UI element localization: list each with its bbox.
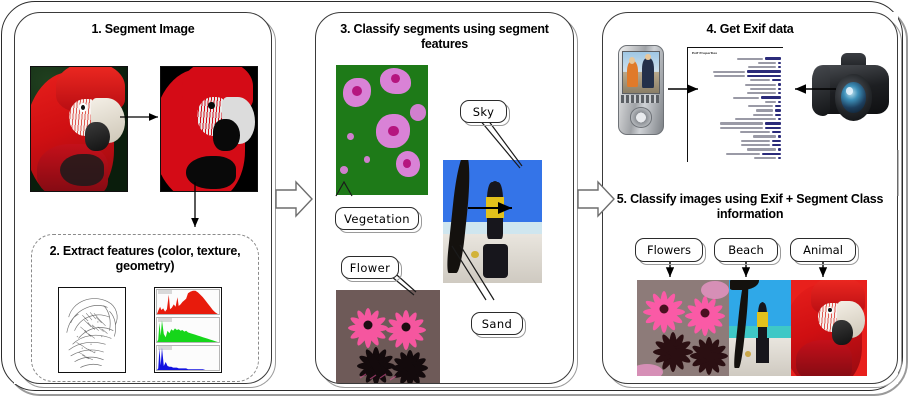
class-label-flowers: Flowers	[635, 238, 703, 262]
exif-row	[691, 144, 781, 147]
dslr-camera-device	[810, 47, 892, 127]
callout-sand: Sand	[471, 312, 523, 335]
exif-row	[691, 70, 781, 73]
callout-vegetation: Vegetation	[335, 207, 419, 230]
class-label-flowers-text: Flowers	[647, 243, 691, 257]
exif-row-list	[691, 57, 781, 151]
camera-phone-device	[614, 43, 666, 135]
panel-step3-classify-segments: 3. Classify segments using segment featu…	[315, 12, 574, 384]
exif-row	[691, 126, 781, 129]
histogram-blue	[156, 345, 220, 371]
exif-row	[691, 109, 781, 112]
class-label-animal-text: Animal	[803, 243, 843, 257]
exif-row	[691, 105, 781, 108]
callout-flower: Flower	[341, 256, 399, 279]
exif-row	[691, 61, 781, 64]
panel-step4-step5-exif-and-classify: 4. Get Exif data Exif Properties	[602, 12, 898, 384]
panel-step1-segment-image: 1. Segment Image 2. Extract features (co…	[14, 12, 272, 384]
panel-title-step1: 1. Segment Image	[14, 22, 272, 37]
exif-row	[691, 79, 781, 82]
exif-row	[691, 66, 781, 69]
class-label-beach: Beach	[714, 238, 778, 262]
texture-edge-map	[58, 287, 126, 373]
callout-sky-label: Sky	[473, 105, 495, 119]
result-image-beach	[729, 280, 791, 376]
exif-row	[691, 74, 781, 77]
histogram-green	[156, 317, 220, 343]
beach-segment-image	[443, 160, 542, 283]
result-image-flowers	[637, 280, 729, 376]
callout-sand-label: Sand	[482, 317, 513, 331]
exif-properties-sheet: Exif Properties	[687, 47, 783, 162]
panel-step2-extract-features: 2. Extract features (color, texture, geo…	[31, 234, 259, 382]
panel-title-step4: 4. Get Exif data	[602, 22, 898, 37]
panel-title-step3: 3. Classify segments using segment featu…	[331, 22, 558, 52]
histogram-red	[156, 289, 220, 315]
exif-row	[691, 100, 781, 103]
exif-row	[691, 131, 781, 134]
exif-row	[691, 96, 781, 99]
exif-row	[691, 87, 781, 90]
segmented-parrot-image	[160, 66, 258, 192]
result-image-animal	[791, 280, 867, 376]
diagram-canvas: 1. Segment Image 2. Extract features (co…	[0, 0, 914, 402]
panel-title-step5: 5. Classify images using Exif + Segment …	[616, 192, 884, 222]
exif-row	[691, 57, 781, 60]
rgb-histograms	[154, 287, 222, 373]
flower-segment-image	[336, 290, 440, 383]
exif-row	[691, 113, 781, 116]
original-parrot-photo	[30, 66, 128, 192]
class-label-animal: Animal	[790, 238, 856, 262]
exif-sheet-header: Exif Properties	[692, 51, 717, 55]
exif-row	[691, 139, 781, 142]
callout-sky: Sky	[460, 100, 507, 123]
histogram-stack	[155, 288, 221, 372]
class-label-beach-text: Beach	[728, 243, 764, 257]
exif-row	[691, 83, 781, 86]
callout-vegetation-label: Vegetation	[344, 212, 410, 226]
exif-row	[691, 152, 781, 155]
exif-row	[691, 92, 781, 95]
exif-row	[691, 157, 781, 160]
exif-row	[691, 135, 781, 138]
panel-title-step2: 2. Extract features (color, texture, geo…	[46, 244, 244, 274]
exif-row	[691, 148, 781, 151]
exif-row	[691, 118, 781, 121]
exif-row	[691, 122, 781, 125]
callout-flower-label: Flower	[350, 261, 390, 275]
vegetation-segment-image	[336, 65, 428, 195]
